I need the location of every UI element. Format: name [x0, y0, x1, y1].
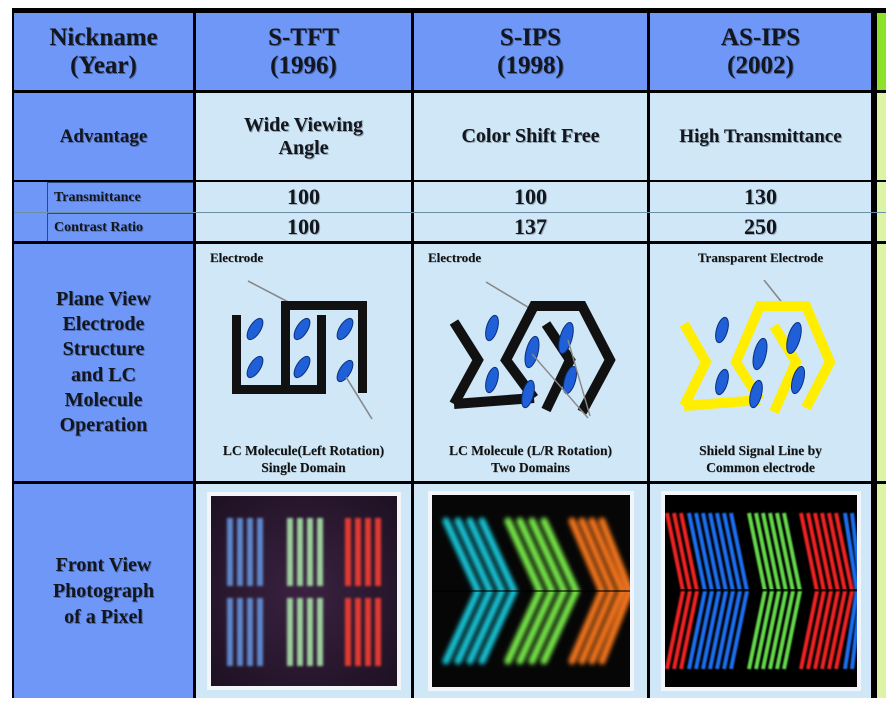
advantage-stft-line2: Angle [244, 137, 363, 160]
cell-plane-view-sips: Electrode [414, 244, 650, 481]
stft-electrode-structure-icon [206, 279, 402, 431]
advantage-stft-line1: Wide Viewing [244, 114, 363, 137]
cell-plane-view-asips: Transparent Electrode [650, 244, 874, 481]
header-cell-nickname: Nickname (Year) [14, 13, 196, 90]
cell-front-view-clipped [874, 484, 886, 698]
cell-contrast-stft: 100 [196, 213, 414, 241]
header-sips-year: (1998) [497, 52, 564, 80]
cell-transmittance-sips: 100 [414, 182, 650, 212]
stft-plane-diagram [206, 266, 402, 443]
row-label-contrast-ratio-wrap: Contrast Ratio [14, 213, 196, 241]
table-header-row: Nickname (Year) S-TFT (1996) S-IPS (1998… [14, 13, 886, 93]
asips-plane-diagram [660, 266, 862, 443]
asips-caption-line2: Common electrode [699, 460, 822, 477]
cell-front-view-sips [414, 484, 650, 698]
header-cell-clipped [874, 13, 886, 90]
cell-transmittance-clipped [874, 182, 886, 212]
header-nickname-line2: (Year) [49, 52, 157, 80]
table-row-advantage: Advantage Wide Viewing Angle Color Shift… [14, 93, 886, 182]
row-label-transmittance-wrap: Transmittance [14, 182, 196, 212]
header-cell-stft: S-TFT (1996) [196, 13, 414, 90]
row-label-advantage: Advantage [14, 93, 196, 180]
cell-contrast-clipped [874, 213, 886, 241]
table-row-front-view: Front View Photograph of a Pixel [14, 484, 886, 698]
front-label-line2: Photograph [53, 578, 154, 604]
cell-contrast-sips: 137 [414, 213, 650, 241]
row-label-front-view: Front View Photograph of a Pixel [14, 484, 196, 698]
cell-contrast-asips: 250 [650, 213, 874, 241]
stft-electrode-label: Electrode [210, 250, 263, 266]
front-label-line1: Front View [53, 552, 154, 578]
table-row-contrast-ratio: Contrast Ratio 100 137 250 [14, 213, 886, 244]
table-row-plane-view: Plane View Electrode Structure and LC Mo… [14, 244, 886, 484]
sips-pixel-photograph [428, 491, 634, 691]
stft-caption-line2: Single Domain [223, 460, 384, 477]
cell-advantage-stft: Wide Viewing Angle [196, 93, 414, 180]
header-nickname-line1: Nickname [49, 24, 157, 52]
table-row-transmittance: Transmittance 100 100 130 [14, 182, 886, 213]
sips-caption-line2: Two Domains [449, 460, 612, 477]
plane-label-line4: and LC [56, 363, 151, 388]
asips-pixel-photograph [661, 491, 861, 691]
header-asips-year: (2002) [721, 52, 800, 80]
cell-advantage-asips: High Transmittance [650, 93, 874, 180]
cell-front-view-asips [650, 484, 874, 698]
asips-caption-line1: Shield Signal Line by [699, 443, 822, 460]
sips-diagram-caption: LC Molecule (L/R Rotation) Two Domains [449, 443, 612, 481]
plane-label-line6: Operation [56, 413, 151, 438]
cell-transmittance-stft: 100 [196, 182, 414, 212]
row-label-transmittance: Transmittance [47, 182, 193, 212]
header-asips-name: AS-IPS [721, 24, 800, 52]
sips-electrode-label: Electrode [428, 250, 481, 266]
asips-electrode-structure-icon [660, 280, 862, 430]
sips-plane-diagram [424, 266, 638, 443]
stft-caption-line1: LC Molecule(Left Rotation) [223, 443, 384, 460]
cell-transmittance-asips: 130 [650, 182, 874, 212]
cell-front-view-stft [196, 484, 414, 698]
cell-advantage-sips: Color Shift Free [414, 93, 650, 180]
asips-electrode-label: Transparent Electrode [698, 250, 823, 266]
row-label-contrast-ratio: Contrast Ratio [47, 213, 193, 241]
stft-pixel-photograph [207, 492, 401, 690]
header-sips-name: S-IPS [497, 24, 564, 52]
sips-caption-line1: LC Molecule (L/R Rotation) [449, 443, 612, 460]
header-cell-asips: AS-IPS (2002) [650, 13, 874, 90]
plane-label-line5: Molecule [56, 388, 151, 413]
stft-pixel-stripes-icon [211, 496, 397, 686]
cell-advantage-clipped [874, 93, 886, 180]
plane-label-line1: Plane View [56, 287, 151, 312]
comparison-table: Nickname (Year) S-TFT (1996) S-IPS (1998… [12, 8, 886, 698]
cell-plane-view-clipped [874, 244, 886, 481]
cell-plane-view-stft: Electrode [196, 244, 414, 481]
header-cell-sips: S-IPS (1998) [414, 13, 650, 90]
sips-pixel-chevrons-icon [432, 495, 630, 687]
sips-electrode-structure-icon [424, 280, 638, 430]
plane-label-line3: Structure [56, 337, 151, 362]
header-stft-year: (1996) [268, 52, 339, 80]
header-stft-name: S-TFT [268, 24, 339, 52]
asips-pixel-chevrons-icon [665, 495, 857, 687]
plane-label-line2: Electrode [56, 312, 151, 337]
front-label-line3: of a Pixel [53, 604, 154, 630]
stft-diagram-caption: LC Molecule(Left Rotation) Single Domain [223, 443, 384, 481]
asips-diagram-caption: Shield Signal Line by Common electrode [699, 443, 822, 481]
row-label-plane-view: Plane View Electrode Structure and LC Mo… [14, 244, 196, 481]
